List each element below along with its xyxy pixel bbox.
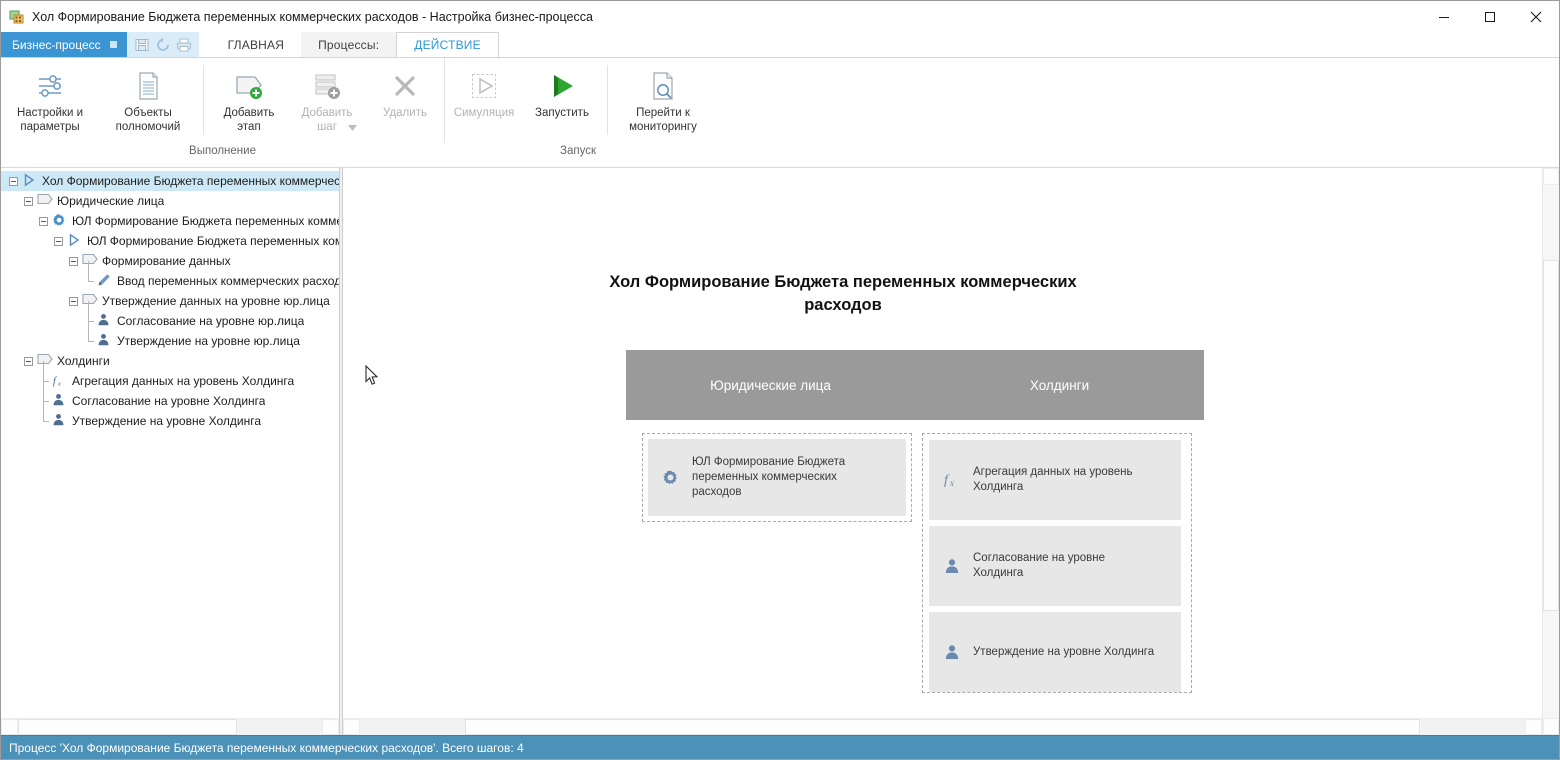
tab-label: ГЛАВНАЯ — [228, 38, 284, 52]
tree-row-label: Согласование на уровне Холдинга — [72, 394, 265, 408]
run-button[interactable]: Запустить — [523, 61, 601, 120]
card-agregaciya-dannyh[interactable]: f x Агрегация данных на уровень Холдинга — [929, 440, 1181, 520]
gear-icon — [658, 469, 684, 487]
tree-elbow — [39, 411, 52, 431]
tree-elbow — [84, 331, 97, 351]
gear-icon — [52, 213, 68, 229]
tree-row[interactable]: ЮЛ Формирование Бюджета переменных комме… — [1, 231, 339, 251]
person-icon — [97, 333, 113, 349]
tree-row[interactable]: Формирование данных — [1, 251, 339, 271]
tree-row-label: Утверждение данных на уровне юр.лица — [102, 294, 330, 308]
chevron-down-icon[interactable] — [348, 121, 357, 135]
pencil-icon — [97, 273, 113, 289]
card-soglasovanie-holding[interactable]: Согласование на уровне Холдинга — [929, 526, 1181, 606]
scroll-right-button[interactable] — [322, 719, 339, 735]
canvas-horizontal-scrollbar[interactable] — [343, 718, 1542, 735]
tree-expander[interactable] — [24, 357, 33, 366]
tree-elbow — [39, 391, 52, 411]
add-stage-button[interactable]: Добавить этап — [210, 61, 288, 134]
window-controls — [1421, 1, 1559, 32]
card-yul-formirovanie[interactable]: ЮЛ Формирование Бюджета переменных комме… — [648, 439, 906, 516]
delete-label: Удалить — [383, 106, 427, 120]
scroll-thumb[interactable] — [18, 719, 237, 735]
diagram-title: Хол Формирование Бюджета переменных комм… — [603, 271, 1083, 317]
simulation-button[interactable]: Симуляция — [445, 61, 523, 120]
process-tree[interactable]: Хол Формирование Бюджета переменных комм… — [1, 168, 339, 718]
status-bar: Процесс 'Хол Формирование Бюджета переме… — [1, 735, 1559, 759]
stage-label: Холдинги — [1030, 378, 1089, 393]
tree-row[interactable]: Ввод переменных коммерческих расходов — [1, 271, 339, 291]
add-step-button[interactable]: Добавить шаг — [288, 61, 366, 148]
tree-row-label: Холдинги — [57, 354, 110, 368]
add-stage-icon — [232, 66, 266, 106]
close-button[interactable] — [1513, 1, 1559, 32]
app-window-icon — [9, 9, 25, 25]
ribbon-tab-strip: Бизнес-процесс — [1, 32, 1559, 57]
card-utverzhdenie-holding[interactable]: Утверждение на уровне Холдинга — [929, 612, 1181, 692]
tree-row[interactable]: Согласование на уровне юр.лица — [1, 311, 339, 331]
stage-label: Юридические лица — [710, 378, 831, 393]
tab-processy[interactable]: Процессы: — [301, 32, 396, 57]
scroll-track[interactable] — [18, 719, 322, 735]
simulation-label: Симуляция — [454, 106, 514, 120]
run-play-icon — [545, 66, 579, 106]
process-diagram: Хол Формирование Бюджета переменных комм… — [343, 168, 1559, 735]
svg-text:x: x — [949, 478, 954, 488]
stage-band: Юридические лица Холдинги — [626, 350, 1204, 420]
canvas-vertical-scrollbar[interactable] — [1542, 168, 1559, 735]
tree-expander[interactable] — [24, 197, 33, 206]
stage-tag-icon — [82, 253, 98, 269]
settings-and-parameters-button[interactable]: Настройки и параметры — [1, 61, 99, 134]
scroll-left-button[interactable] — [1, 719, 18, 735]
tree-row-label: Формирование данных — [102, 254, 231, 268]
scroll-track[interactable] — [360, 719, 1525, 735]
tree-elbow — [84, 311, 97, 331]
ribbon-group-zapusk: Симуляция Запустить — [444, 57, 712, 167]
stage-tag-icon — [37, 193, 53, 209]
fx-icon: fx — [52, 373, 68, 389]
diagram-canvas-pane[interactable]: Хол Формирование Бюджета переменных комм… — [343, 168, 1559, 735]
tree-elbow — [39, 371, 52, 391]
run-label: Запустить — [535, 106, 589, 120]
tree-row[interactable]: fxАгрегация данных на уровень Холдинга — [1, 371, 339, 391]
scroll-left-button[interactable] — [343, 719, 360, 735]
go-to-monitoring-button[interactable]: Перейти к мониторингу — [614, 61, 712, 134]
stage-tag-icon — [37, 353, 53, 369]
ribbon-tabs: ГЛАВНАЯ Процессы: ДЕЙСТВИЕ — [211, 32, 499, 57]
refresh-icon[interactable] — [155, 37, 171, 53]
status-bar-text: Процесс 'Хол Формирование Бюджета переме… — [9, 741, 524, 755]
delete-x-icon — [388, 66, 422, 106]
person-icon — [939, 558, 965, 574]
business-process-menu-label: Бизнес-процесс — [12, 38, 101, 52]
scroll-up-button[interactable] — [1543, 168, 1559, 185]
lane-holdings: f x Агрегация данных на уровень Холдинга — [922, 433, 1192, 693]
go-to-monitoring-label: Перейти к мониторингу — [629, 106, 697, 134]
tree-expander[interactable] — [69, 297, 78, 306]
tree-row-label: Утверждение на уровне Холдинга — [72, 414, 261, 428]
document-lines-icon — [131, 66, 165, 106]
stage-tag-icon — [82, 293, 98, 309]
lane-legal-entities: ЮЛ Формирование Бюджета переменных комме… — [642, 433, 912, 522]
main-body: Хол Формирование Бюджета переменных комм… — [1, 168, 1559, 735]
tab-label: ДЕЙСТВИЕ — [414, 38, 481, 52]
maximize-button[interactable] — [1467, 1, 1513, 32]
stage-holdings[interactable]: Холдинги — [915, 350, 1204, 420]
tree-row-label: Утверждение на уровне юр.лица — [117, 334, 300, 348]
simulate-play-icon — [467, 66, 501, 106]
tree-expander[interactable] — [54, 237, 63, 246]
person-icon — [52, 393, 68, 409]
print-icon[interactable] — [176, 37, 192, 53]
tree-expander[interactable] — [69, 257, 78, 266]
tree-row-label: ЮЛ Формирование Бюджета переменных комме… — [72, 214, 339, 228]
ribbon-group-vypolnenie: Настройки и параметры — [1, 57, 444, 167]
tree-row-label: Ввод переменных коммерческих расходов — [117, 274, 339, 288]
tree-row-label: Юридические лица — [57, 194, 164, 208]
authority-objects-button[interactable]: Объекты полномочий — [99, 61, 197, 134]
tree-row[interactable]: Утверждение на уровне юр.лица — [1, 331, 339, 351]
tree-row[interactable]: Юридические лица — [1, 191, 339, 211]
scroll-thumb[interactable] — [465, 719, 1420, 735]
tree-row[interactable]: ЮЛ Формирование Бюджета переменных комме… — [1, 211, 339, 231]
card-label: ЮЛ Формирование Бюджета переменных комме… — [692, 455, 845, 500]
tree-row[interactable]: Согласование на уровне Холдинга — [1, 391, 339, 411]
window-title: Хол Формирование Бюджета переменных комм… — [32, 10, 593, 24]
tab-glavnaya[interactable]: ГЛАВНАЯ — [211, 32, 301, 57]
tree-expander[interactable] — [9, 177, 18, 186]
card-label: Утверждение на уровне Холдинга — [973, 645, 1154, 660]
authority-objects-label: Объекты полномочий — [116, 106, 181, 134]
ribbon-group-title: Выполнение — [1, 143, 444, 165]
monitoring-magnifier-icon — [646, 66, 680, 106]
business-process-menu-button[interactable]: Бизнес-процесс — [1, 32, 127, 57]
tree-expander[interactable] — [39, 217, 48, 226]
scroll-down-button[interactable] — [1543, 718, 1559, 735]
scroll-thumb[interactable] — [1543, 260, 1559, 612]
add-stage-label: Добавить этап — [224, 106, 275, 134]
tree-elbow — [84, 271, 97, 291]
minimize-button[interactable] — [1421, 1, 1467, 32]
add-step-icon — [310, 66, 344, 106]
tree-horizontal-scrollbar[interactable] — [1, 718, 339, 735]
scroll-right-button[interactable] — [1525, 719, 1542, 735]
svg-text:x: x — [57, 381, 61, 388]
person-icon — [97, 313, 113, 329]
ribbon-group-title: Запуск — [444, 143, 712, 165]
delete-button[interactable]: Удалить — [366, 61, 444, 120]
card-label: Агрегация данных на уровень Холдинга — [973, 465, 1133, 495]
add-step-label: Добавить шаг — [302, 106, 353, 134]
chevron-down-icon — [110, 41, 117, 48]
save-icon[interactable] — [134, 37, 150, 53]
tree-row[interactable]: Хол Формирование Бюджета переменных комм… — [1, 171, 339, 191]
ribbon: Настройки и параметры — [1, 57, 1559, 168]
blue-play-icon — [22, 173, 38, 189]
ribbon-divider — [607, 65, 608, 135]
tab-deystvie[interactable]: ДЕЙСТВИЕ — [396, 32, 499, 57]
ribbon-divider — [203, 65, 204, 135]
blue-play-icon — [67, 233, 83, 249]
tree-row-label: Агрегация данных на уровень Холдинга — [72, 374, 294, 388]
person-icon — [52, 413, 68, 429]
tree-row[interactable]: Холдинги — [1, 351, 339, 371]
scroll-track[interactable] — [1543, 185, 1559, 718]
quick-access-toolbar — [127, 32, 199, 57]
stage-legal-entities[interactable]: Юридические лица — [626, 350, 915, 420]
tab-label: Процессы: — [318, 38, 379, 52]
fx-icon: f x — [939, 470, 965, 490]
person-icon — [939, 644, 965, 660]
settings-and-parameters-label: Настройки и параметры — [17, 106, 83, 134]
card-label: Согласование на уровне Холдинга — [973, 551, 1105, 581]
title-bar: Хол Формирование Бюджета переменных комм… — [1, 1, 1559, 32]
tree-row-label: Хол Формирование Бюджета переменных комм… — [42, 174, 339, 188]
sliders-icon — [33, 66, 67, 106]
application-window: Хол Формирование Бюджета переменных комм… — [0, 0, 1560, 760]
tree-row-label: Согласование на уровне юр.лица — [117, 314, 304, 328]
tree-row[interactable]: Утверждение данных на уровне юр.лица — [1, 291, 339, 311]
process-tree-pane: Хол Формирование Бюджета переменных комм… — [1, 168, 339, 735]
tree-row-label: ЮЛ Формирование Бюджета переменных комме… — [87, 234, 339, 248]
tree-row[interactable]: Утверждение на уровне Холдинга — [1, 411, 339, 431]
